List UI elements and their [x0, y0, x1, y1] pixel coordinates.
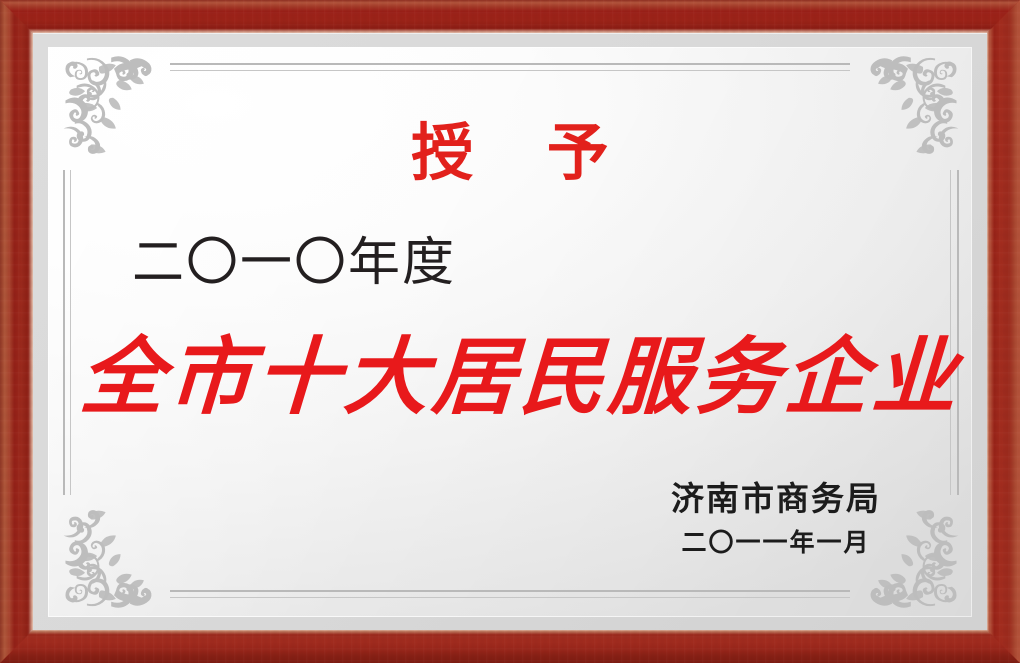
award-verb-text: 授 予: [80, 122, 940, 184]
award-year-text: 二〇一〇年度: [132, 237, 456, 289]
certificate-text-block: 授 予 二〇一〇年度 全市十大居民服务企业 济南市商务局 二〇一一年一月: [80, 80, 940, 585]
award-plaque: 授 予 二〇一〇年度 全市十大居民服务企业 济南市商务局 二〇一一年一月: [0, 0, 1020, 663]
issuer-block: 济南市商务局 二〇一一年一月: [646, 478, 906, 559]
frame-bottom-rail: [0, 630, 1020, 663]
frame-top-rail: [0, 0, 1020, 33]
frame-left-stile: [0, 0, 33, 663]
issue-date-text: 二〇一一年一月: [646, 527, 906, 558]
issuer-name-text: 济南市商务局: [646, 478, 906, 519]
frame-right-stile: [987, 0, 1020, 663]
award-title-text: 全市十大居民服务企业: [78, 335, 942, 419]
